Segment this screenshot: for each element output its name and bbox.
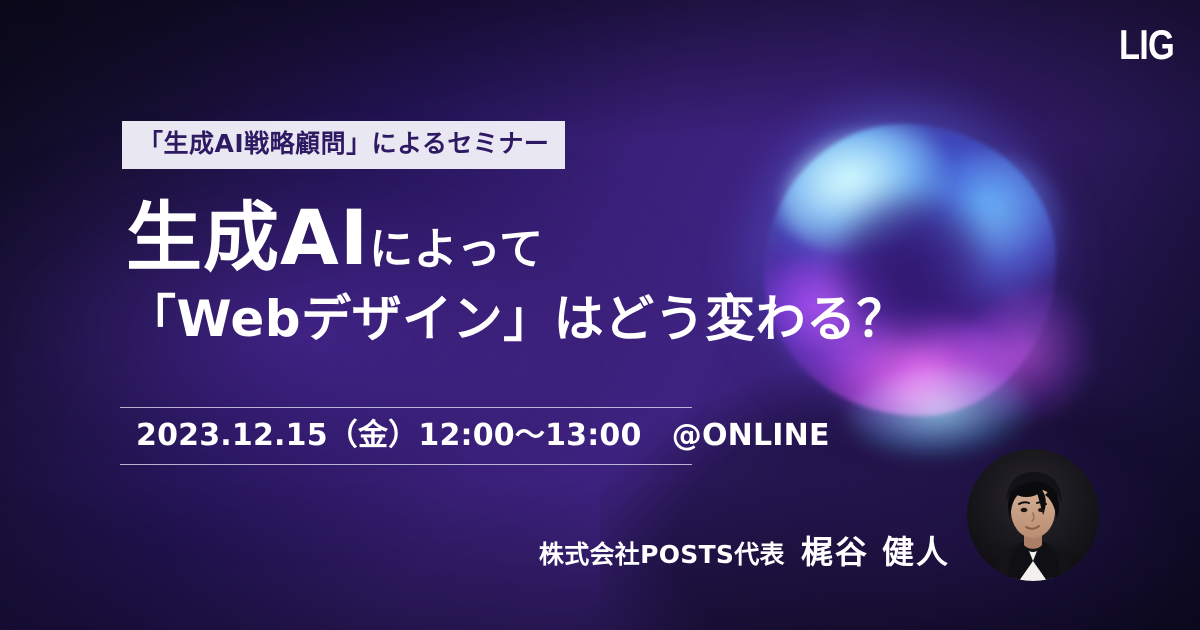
- title-emphasis: 生成AI: [126, 193, 369, 282]
- lig-logo[interactable]: LIG: [1119, 24, 1174, 66]
- event-datetime-text: 2023.12.15（金）12:00〜13:00 @ONLINE: [120, 419, 692, 452]
- title-line-1: 生成AIによって: [126, 200, 826, 276]
- speaker-avatar: [967, 449, 1099, 581]
- title-suffix: によって: [369, 224, 543, 275]
- seminar-badge: 「生成AI戦略顧問」によるセミナー: [122, 121, 565, 169]
- speaker-name: 梶谷 健人: [801, 533, 950, 571]
- event-datetime-band: 2023.12.15（金）12:00〜13:00 @ONLINE: [120, 407, 692, 465]
- speaker-company: 株式会社POSTS代表: [539, 540, 785, 569]
- title-line-2: 「Webデザイン」はどう変わる？: [126, 292, 826, 347]
- page-title: 生成AIによって 「Webデザイン」はどう変わる？: [126, 200, 826, 347]
- seminar-poster: LIG 「生成AI戦略顧問」によるセミナー 生成AIによって 「Webデザイン」…: [0, 0, 1200, 630]
- speaker-credit: 株式会社POSTS代表梶谷 健人: [520, 527, 950, 573]
- speaker-portrait-illustration: [967, 449, 1099, 581]
